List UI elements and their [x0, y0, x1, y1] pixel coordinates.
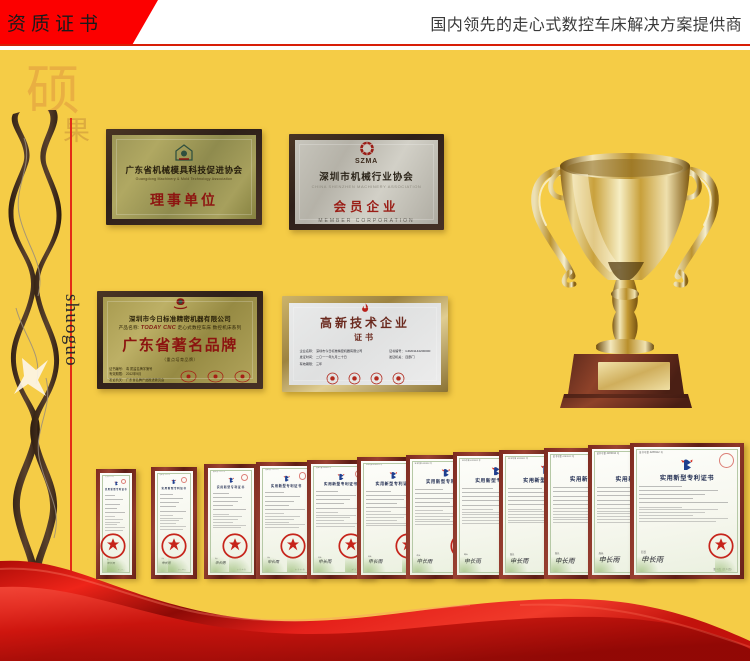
cert-text-line: [160, 498, 184, 499]
cert-text-line: [366, 503, 397, 504]
plaque-gmta-director-unit: 广东省机械模具科技促进协会 Guangdong Machinery & Mold…: [106, 129, 262, 225]
plaque-company-name: 深圳市今日标准精密机器有限公司: [129, 313, 231, 323]
cert-text-line: [213, 497, 242, 498]
cert-text-line: [639, 486, 682, 487]
patent-certificate[interactable]: 证书号第 4283912 号实用新型专利证书局长申长雨第 1 页（共 1 页）: [96, 469, 136, 579]
plaque-award-subtitle: （重点培育品牌）: [162, 357, 198, 363]
cert-text-line: [639, 521, 716, 522]
patent-certificate-fan: 证书号第 4283912 号实用新型专利证书局长申长雨第 1 页（共 1 页）证…: [96, 443, 750, 579]
cnipa-logo-icon: [283, 475, 290, 482]
plaque-product-line: 产品名称: TODAY CNC 走心式数控车床 数控机床系列: [119, 325, 242, 331]
famous-brand-emblem-icon: [170, 297, 191, 311]
cert-text-line: [639, 494, 705, 495]
cert-text-line: [213, 509, 246, 510]
cert-text-line: [213, 525, 246, 526]
cert-text-line: [160, 511, 187, 512]
cert-text-line: [105, 504, 120, 505]
plaque-award-title-en: MEMBER CORPORATION: [318, 218, 414, 224]
red-seal-icon: [370, 372, 383, 385]
cert-text-line: [160, 526, 187, 527]
plaque-award-title: 会员企业: [333, 196, 399, 215]
cert-text-line: [105, 530, 123, 531]
cnipa-logo-icon: [114, 481, 119, 486]
red-seal-icon: [348, 372, 361, 385]
cert-text-line: [160, 502, 180, 503]
cert-text-line: [316, 517, 350, 518]
cert-text-line: [639, 515, 693, 516]
page-title: 资质证书: [0, 9, 103, 36]
plaque-org-name-en: CHINA SHENZHEN MACHINERY ASSOCIATION: [312, 184, 422, 189]
cert-text-line: [105, 499, 123, 500]
cert-corner-ornament: [287, 556, 309, 572]
cert-text-line: [415, 516, 458, 517]
cert-text-block: [639, 507, 735, 522]
cnipa-logo-icon: [680, 458, 694, 472]
cert-text-line: [105, 516, 115, 517]
cert-text-block: [639, 486, 735, 504]
cert-text-line: [213, 493, 229, 494]
cert-text-line: [316, 508, 361, 509]
plaque-frame: 高新技术企业 证书 企业名称： 深圳市今日标准精密机器有限公司 发证时间： 二〇…: [282, 296, 448, 392]
cnipa-logo-icon: [171, 479, 177, 485]
plaque-fields-right: 证书编号： GR201144200000 发证机关： 四部门: [389, 348, 430, 367]
cert-text-block: [160, 494, 189, 512]
certificate-title: 实用新型专利证书: [160, 486, 189, 490]
cert-text-line: [265, 522, 289, 523]
cert-text-line: [105, 508, 117, 509]
product-desc: 走心式数控车床 数控机床系列: [178, 325, 242, 330]
plaque-fields-left: 企业名称： 深圳市今日标准精密机器有限公司 发证时间： 二〇一一年九月二十日 有…: [300, 348, 363, 367]
cert-text-line: [639, 490, 718, 491]
cert-text-line: [316, 523, 361, 524]
cert-text-line: [160, 523, 176, 524]
cert-text-line: [366, 525, 411, 526]
cert-text-line: [415, 519, 450, 520]
cert-text-line: [105, 512, 125, 513]
cert-text-line: [265, 505, 289, 506]
cert-text-line: [105, 527, 125, 528]
cnipa-logo-icon: [389, 471, 398, 480]
plaque-face: 高新技术企业 证书 企业名称： 深圳市今日标准精密机器有限公司 发证时间： 二〇…: [289, 303, 441, 385]
gold-trophy-image: [512, 122, 738, 414]
cert-corner-ornament: [551, 556, 573, 572]
cnipa-logo-icon: [337, 473, 345, 481]
cert-text-line: [265, 513, 284, 514]
cert-text-line: [265, 501, 294, 502]
cert-text-line: [415, 502, 450, 503]
trophy-name-plate: [598, 362, 670, 390]
cert-text-line: [366, 511, 391, 512]
szma-logo-label: SZMA: [355, 158, 378, 165]
plaque-high-tech-enterprise: 高新技术企业 证书 企业名称： 深圳市今日标准精密机器有限公司 发证时间： 二〇…: [282, 296, 448, 392]
certificate-sheet: 证书号第 4283912 号实用新型专利证书局长申长雨第 1 页（共 1 页）: [155, 471, 194, 575]
cert-text-line: [316, 512, 338, 513]
cert-text-line: [415, 498, 458, 499]
cert-text-line: [213, 505, 233, 506]
cert-text-line: [462, 517, 501, 518]
cert-text-line: [316, 503, 343, 504]
cert-text-line: [415, 510, 443, 511]
cert-text-line: [462, 500, 501, 501]
cert-text-line: [213, 527, 241, 528]
cert-text-line: [160, 515, 173, 516]
cert-corner-ornament: [595, 556, 617, 572]
plaque-award-title: 广东省著名品牌: [122, 334, 238, 355]
cert-text-line: [553, 487, 590, 488]
cert-text-line: [366, 517, 404, 518]
patent-certificate[interactable]: 证书号第 4283912 号实用新型专利证书局长申长雨第 1 页（共 1 页）: [151, 467, 198, 579]
cert-text-block: [213, 514, 248, 529]
certificate-sheet: 证书号第 4283912 号实用新型专利证书局长申长雨第 1 页（共 1 页）: [208, 468, 253, 575]
cert-text-line: [105, 524, 117, 525]
cert-text-line: [160, 520, 180, 521]
high-tech-flame-logo-icon: [358, 303, 372, 313]
plaque-award-subtitle: 证书: [354, 332, 376, 343]
cert-text-line: [415, 489, 443, 490]
gmta-logo-icon: [174, 144, 194, 162]
cert-corner-ornament: [413, 556, 435, 572]
plaque-org-name-en: Guangdong Machinery & Mold Technology As…: [136, 177, 233, 181]
cert-text-line: [265, 492, 284, 493]
certificate-title: 实用新型专利证书: [265, 483, 307, 488]
cert-text-block: [105, 516, 127, 531]
patent-certificate[interactable]: 证书号第 4283912 号实用新型专利证书局长申长雨第 1 页（共 1 页）: [630, 443, 744, 579]
meta-line: 发证机关： 广东省名牌产品推进委员会: [109, 378, 170, 383]
cert-text-line: [265, 516, 300, 517]
cert-text-line: [639, 498, 693, 499]
cert-text-line: [639, 502, 728, 503]
certificate-frame: 证书号第 4283912 号实用新型专利证书局长申长雨第 1 页（共 1 页）: [96, 469, 136, 579]
cert-corner-ornament: [229, 556, 251, 572]
certificate-title: 实用新型专利证书: [639, 473, 735, 482]
cert-text-line: [639, 507, 682, 508]
header-tagline: 国内领先的走心式数控车床解决方案提供商: [430, 11, 742, 35]
certificate-title: 实用新型专利证书: [213, 485, 248, 489]
cert-text-line: [160, 494, 173, 495]
cert-text-line: [265, 509, 304, 510]
cert-text-line: [160, 529, 183, 530]
certificate-title: 实用新型专利证书: [105, 487, 127, 491]
cert-text-line: [366, 491, 391, 492]
certificate-small-seal-icon: [121, 479, 126, 484]
szma-gear-logo-icon: [357, 140, 377, 157]
cert-text-block: [105, 495, 127, 513]
cert-text-line: [366, 499, 404, 500]
page-header: 资质证书 国内领先的走心式数控车床解决方案提供商: [0, 0, 750, 50]
cert-text-line: [316, 499, 350, 500]
plaque-face: 广东省机械模具科技促进协会 Guangdong Machinery & Mold…: [112, 135, 256, 219]
plaque-face: 深圳市今日标准精密机器有限公司 产品名称: TODAY CNC 走心式数控车床 …: [103, 297, 257, 383]
cert-text-line: [265, 496, 300, 497]
certificate-small-seal-icon: [181, 477, 187, 483]
cert-text-line: [366, 520, 397, 521]
cert-corner-ornament: [107, 556, 129, 572]
plaque-meta-block: 证书编号： 粤 质监名牌字第号 有效期限： 2012年9月 发证机关： 广东省名…: [109, 367, 170, 383]
field-line: 有效期限： 三年: [300, 361, 363, 367]
product-brand: TODAY CNC: [141, 325, 176, 331]
plaque-org-name-cn: 深圳市机械行业协会: [319, 169, 414, 183]
cert-text-line: [639, 512, 705, 513]
cert-corner-ornament: [637, 556, 659, 572]
cert-text-line: [213, 516, 242, 517]
cert-text-line: [213, 519, 237, 520]
plaque-frame: 深圳市今日标准精密机器有限公司 产品名称: TODAY CNC 走心式数控车床 …: [97, 291, 263, 389]
certificate-sheet: 证书号第 4283912 号实用新型专利证书局长申长雨第 1 页（共 1 页）: [100, 473, 132, 575]
cert-text-line: [105, 522, 120, 523]
cert-text-line: [316, 515, 356, 516]
product-label: 产品名称:: [119, 325, 140, 330]
cert-text-line: [462, 509, 493, 510]
red-seal-icon: [234, 370, 251, 383]
cert-text-line: [160, 506, 176, 507]
cert-text-block: [265, 492, 307, 510]
cert-corner-ornament: [506, 556, 528, 572]
red-seal-icon: [326, 372, 339, 385]
certificate-frame: 证书号第 4283912 号实用新型专利证书局长申长雨第 1 页（共 1 页）: [151, 467, 198, 579]
header-banner: 资质证书: [0, 0, 158, 44]
cert-corner-ornament: [364, 556, 386, 572]
cert-corner-ornament: [314, 556, 336, 572]
plaque-szma-member-corporation: SZMA 深圳市机械行业协会 CHINA SHENZHEN MACHINERY …: [289, 134, 444, 230]
cert-text-line: [213, 501, 237, 502]
certificate-frame: 证书号第 4283912 号实用新型专利证书局长申长雨第 1 页（共 1 页）: [204, 464, 257, 579]
patent-certificate[interactable]: 证书号第 4283912 号实用新型专利证书局长申长雨第 1 页（共 1 页）: [204, 464, 257, 579]
plaque-guangdong-famous-brand: 深圳市今日标准精密机器有限公司 产品名称: TODAY CNC 走心式数控车床 …: [97, 291, 263, 389]
certificate-sheet: 证书号第 4283912 号实用新型专利证书局长申长雨第 1 页（共 1 页）: [634, 447, 740, 575]
certificate-sheet: 证书号第 4283912 号实用新型专利证书局长申长雨第 1 页（共 1 页）: [260, 466, 312, 575]
plaque-award-title: 高新技术企业: [320, 314, 410, 331]
certificate-frame: 证书号第 4283912 号实用新型专利证书局长申长雨第 1 页（共 1 页）: [630, 443, 744, 579]
cert-text-line: [213, 522, 233, 523]
field-line: 发证机关： 四部门: [389, 354, 430, 360]
cert-text-line: [639, 509, 718, 510]
cert-header-text: 证书号第 4283912 号: [160, 475, 189, 476]
cert-text-block: [160, 515, 189, 530]
plaque-frame: SZMA 深圳市机械行业协会 CHINA SHENZHEN MACHINERY …: [289, 134, 444, 230]
plaque-face: SZMA 深圳市机械行业协会 CHINA SHENZHEN MACHINERY …: [295, 140, 438, 224]
cert-text-line: [508, 509, 542, 510]
red-seal-icon: [180, 370, 197, 383]
cert-text-line: [316, 526, 355, 527]
cert-text-line: [265, 527, 299, 528]
cert-text-line: [105, 519, 123, 520]
cert-text-line: [639, 518, 728, 519]
plaque-fields-row: 企业名称： 深圳市今日标准精密机器有限公司 发证时间： 二〇一一年九月二十日 有…: [300, 348, 431, 367]
plaque-seal-row: [326, 372, 405, 385]
plaque-award-title: 理事单位: [150, 190, 218, 210]
twisted-ribbon-ornament-icon: [2, 108, 68, 588]
cert-text-line: [462, 488, 493, 489]
cnipa-logo-icon: [228, 477, 235, 484]
plaque-footer-row: 证书编号： 粤 质监名牌字第号 有效期限： 2012年9月 发证机关： 广东省名…: [109, 367, 251, 383]
cnipa-logo-icon: [441, 468, 451, 478]
certificate-small-seal-icon: [241, 474, 248, 481]
cert-text-line: [213, 514, 229, 515]
header-divider: [0, 44, 750, 46]
cert-text-line: [316, 495, 356, 496]
cert-text-line: [265, 519, 294, 520]
cert-text-block: [265, 513, 307, 528]
red-seal-icon: [392, 372, 405, 385]
cert-corner-ornament: [263, 556, 285, 572]
plaque-frame: 广东省机械模具科技促进协会 Guangdong Machinery & Mold…: [106, 129, 262, 225]
cert-text-line: [265, 524, 304, 525]
cert-corner-ornament: [460, 556, 482, 572]
cert-text-line: [316, 520, 343, 521]
cert-text-line: [316, 491, 338, 492]
qualification-certificate-page: 资质证书 国内领先的走心式数控车床解决方案提供商 硕 果: [0, 0, 750, 661]
certificate-small-seal-icon: [719, 453, 734, 468]
plaque-org-name-cn: 广东省机械模具科技促进协会: [125, 164, 242, 176]
cert-corner-ornament: [168, 556, 190, 572]
cert-text-line: [553, 508, 590, 509]
cert-text-line: [160, 518, 184, 519]
brand-name-vertical: shuoguo: [60, 294, 82, 338]
cert-text-block: [213, 493, 248, 511]
cert-corner-ornament: [715, 556, 737, 572]
certificate-small-seal-icon: [299, 472, 307, 480]
cert-text-line: [508, 488, 542, 489]
cert-text-line: [105, 495, 115, 496]
red-seal-icon: [207, 370, 224, 383]
